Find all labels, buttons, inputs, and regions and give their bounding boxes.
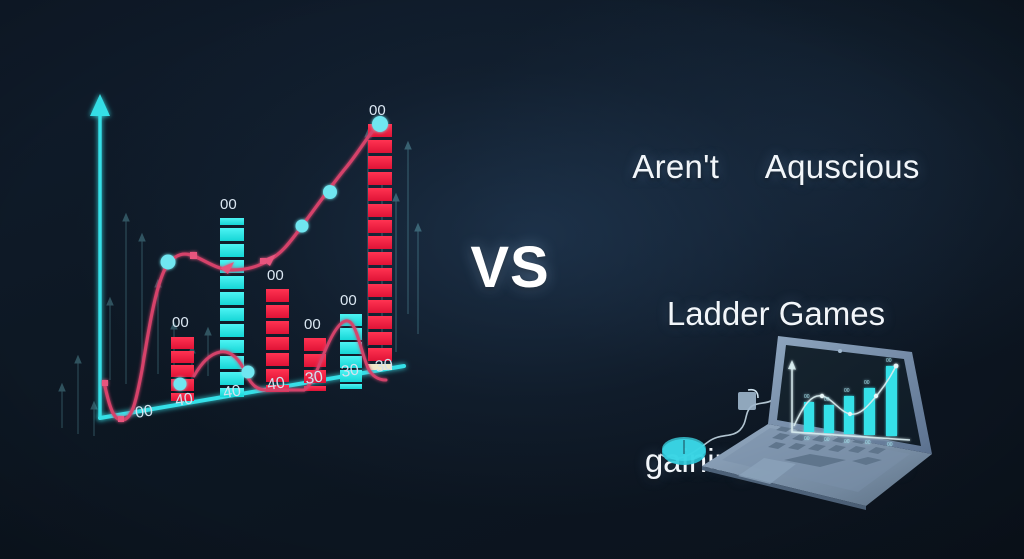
x-tick-5: 30 xyxy=(340,361,360,381)
x-tick-3: 40 xyxy=(266,374,286,394)
x-tick-2: 40 xyxy=(222,382,242,402)
versus-label: VS xyxy=(455,234,565,301)
laptop-tick-3: 00 xyxy=(844,439,850,445)
bar-value-4: 00 xyxy=(304,316,321,333)
bar-value-5: 00 xyxy=(340,292,357,309)
bar-2 xyxy=(220,218,244,397)
laptop-bar-value-3: 00 xyxy=(844,388,850,394)
x-tick-4: 30 xyxy=(304,368,324,388)
laptop-tick-4: 00 xyxy=(865,440,871,446)
laptop-tick-2: 00 xyxy=(824,437,830,443)
chart-svg: 00 00 00 00 00 00 00 40 40 40 30 30 30 xyxy=(52,84,422,444)
laptop-tick-5: 00 xyxy=(887,442,893,448)
usb-connector xyxy=(738,390,758,410)
x-tick-6: 30 xyxy=(374,356,394,376)
mouse xyxy=(662,437,706,465)
poster-canvas: 00 00 00 00 00 00 00 40 40 40 30 30 30 V… xyxy=(0,0,1024,559)
y-axis xyxy=(90,94,110,418)
laptop-bar-value-4: 00 xyxy=(864,380,870,386)
bar-value-2: 00 xyxy=(220,196,237,213)
laptop-bar-value-1: 00 xyxy=(804,394,810,400)
headline-line-1: Aren't Aquscious xyxy=(566,142,986,191)
laptop-svg: 00 00 00 00 00 00 00 00 00 00 xyxy=(660,320,960,510)
bar-value-1: 00 xyxy=(172,314,189,331)
x-tick-0: 00 xyxy=(134,402,154,422)
laptop-bar-value-2: 00 xyxy=(824,397,830,403)
x-tick-1: 40 xyxy=(174,390,194,410)
bar-value-6: 00 xyxy=(369,102,386,119)
bar-6 xyxy=(368,124,392,370)
laptop-tick-1: 00 xyxy=(804,436,810,442)
bar-value-3: 00 xyxy=(267,267,284,284)
laptop-illustration: 00 00 00 00 00 00 00 00 00 00 xyxy=(660,320,960,510)
bar-chart-illustration: 00 00 00 00 00 00 00 40 40 40 30 30 30 xyxy=(52,84,422,444)
laptop-bar-value-5: 00 xyxy=(886,358,892,364)
